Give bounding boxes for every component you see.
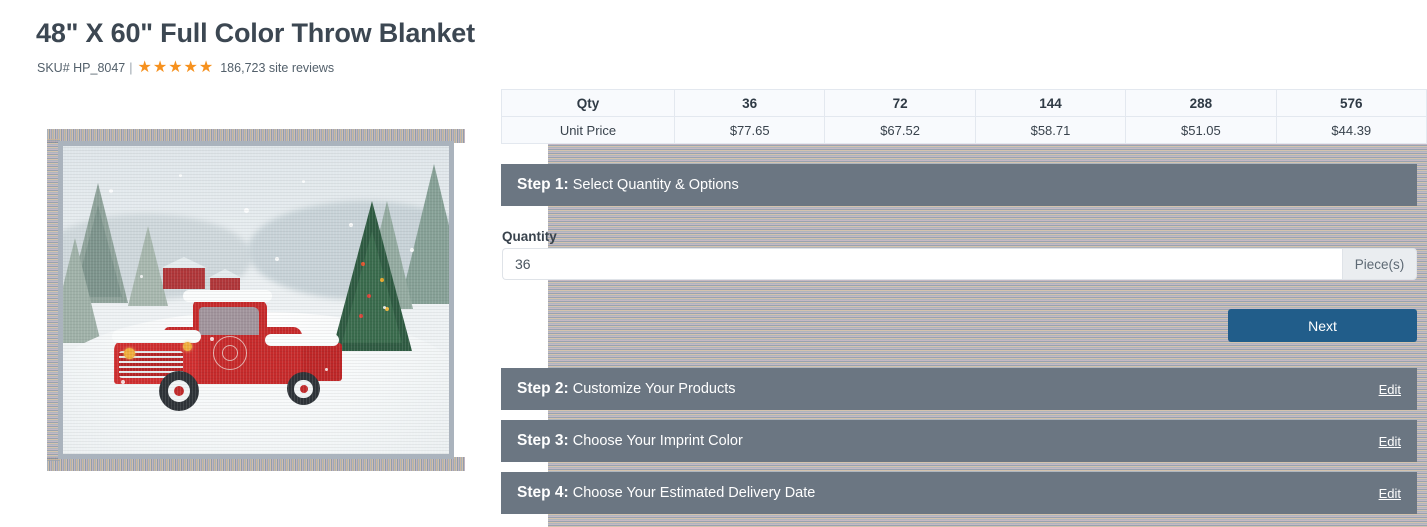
table-cell-price: $67.52 [825, 117, 975, 144]
product-configurator-page: 48" X 60" Full Color Throw Blanket SKU# … [0, 0, 1427, 527]
step-4-number: Step 4: [517, 484, 569, 501]
step-1-title: Select Quantity & Options [573, 177, 739, 193]
product-meta-row: SKU# HP_8047 | ★ ★ ★ ★ ★ 186,723 site re… [37, 60, 334, 76]
table-cell-qty: 36 [675, 90, 825, 117]
table-cell-qty: 576 [1276, 90, 1426, 117]
step-3-edit-link[interactable]: Edit [1379, 434, 1401, 449]
step-2-title: Customize Your Products [573, 381, 736, 397]
table-cell-price: $58.71 [975, 117, 1125, 144]
configurator-column: Qty 36 72 144 288 576 Unit Price $77.65 … [501, 0, 1427, 527]
review-count-link[interactable]: 186,723 site reviews [220, 61, 334, 75]
quantity-input[interactable] [502, 248, 1342, 280]
step-3-title: Choose Your Imprint Color [573, 433, 743, 449]
table-header-qty: Qty [502, 90, 675, 117]
star-icon: ★ [199, 60, 213, 76]
star-icon: ★ [153, 60, 167, 76]
step-4-edit-link[interactable]: Edit [1379, 486, 1401, 501]
quantity-label: Quantity [502, 229, 557, 244]
star-icon: ★ [138, 60, 152, 76]
step-1-number: Step 1: [517, 176, 569, 193]
star-icon: ★ [168, 60, 182, 76]
quantity-input-group[interactable]: Piece(s) [502, 248, 1417, 280]
product-image-panel[interactable] [36, 100, 476, 500]
table-cell-price: $51.05 [1126, 117, 1276, 144]
step-2-header[interactable]: Step 2: Customize Your Products Edit [501, 368, 1417, 410]
step-1-label: Step 1: Select Quantity & Options [517, 176, 739, 194]
star-rating[interactable]: ★ ★ ★ ★ ★ [138, 60, 214, 76]
winter-scene-artwork [63, 146, 449, 454]
page-title: 48" X 60" Full Color Throw Blanket [36, 18, 475, 49]
table-row-unit-price: Unit Price $77.65 $67.52 $58.71 $51.05 $… [502, 117, 1427, 144]
fringe-bottom [47, 457, 465, 471]
blanket-product-image[interactable] [47, 129, 465, 471]
step-4-title: Choose Your Estimated Delivery Date [573, 485, 816, 501]
table-cell-qty: 288 [1126, 90, 1276, 117]
step-4-label: Step 4: Choose Your Estimated Delivery D… [517, 484, 815, 502]
table-cell-price: $44.39 [1276, 117, 1426, 144]
star-icon: ★ [184, 60, 198, 76]
table-header-unit-price: Unit Price [502, 117, 675, 144]
step-1-header[interactable]: Step 1: Select Quantity & Options [501, 164, 1417, 206]
table-row-qty: Qty 36 72 144 288 576 [502, 90, 1427, 117]
table-cell-qty: 144 [975, 90, 1125, 117]
sku-label: SKU# HP_8047 [37, 61, 125, 75]
step-2-label: Step 2: Customize Your Products [517, 380, 736, 398]
pricing-table: Qty 36 72 144 288 576 Unit Price $77.65 … [501, 89, 1427, 144]
step-4-header[interactable]: Step 4: Choose Your Estimated Delivery D… [501, 472, 1417, 514]
step-2-edit-link[interactable]: Edit [1379, 382, 1401, 397]
step-3-header[interactable]: Step 3: Choose Your Imprint Color Edit [501, 420, 1417, 462]
step-3-label: Step 3: Choose Your Imprint Color [517, 432, 743, 450]
step-3-number: Step 3: [517, 432, 569, 449]
meta-separator: | [129, 61, 132, 75]
red-pickup-truck [109, 275, 356, 411]
table-cell-qty: 72 [825, 90, 975, 117]
quantity-unit-addon: Piece(s) [1342, 248, 1417, 280]
step-2-number: Step 2: [517, 380, 569, 397]
next-button[interactable]: Next [1228, 309, 1417, 342]
table-cell-price: $77.65 [675, 117, 825, 144]
